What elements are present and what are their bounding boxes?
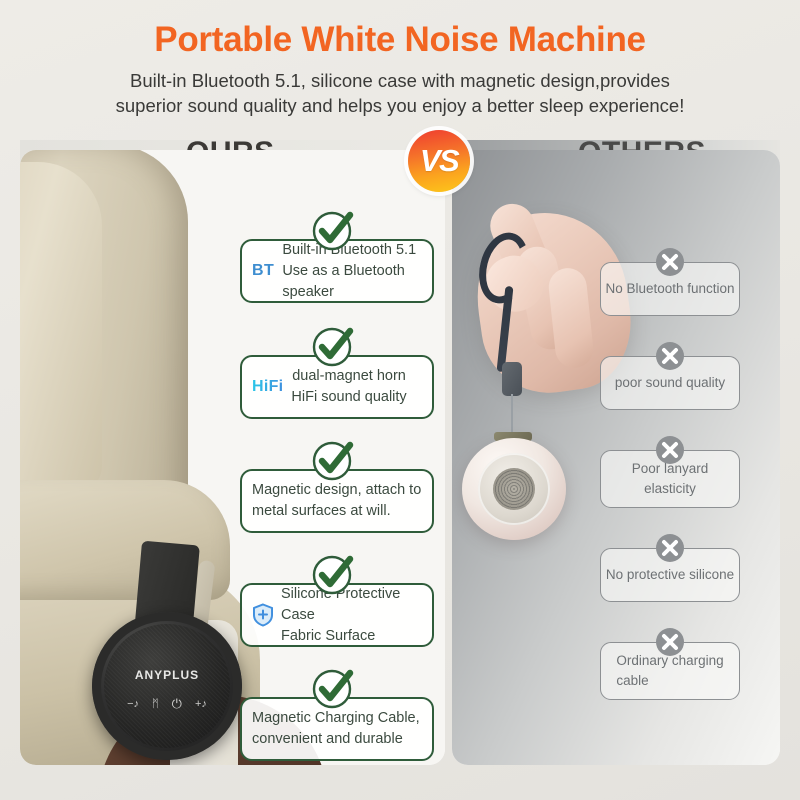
page-subtitle: Built-in Bluetooth 5.1, silicone case wi… xyxy=(40,68,760,118)
speaker-control-keys: −♪ ᛗ ⏻ +♪ xyxy=(92,696,242,712)
check-icon xyxy=(310,323,356,369)
white-noise-speaker: ANYPLUS −♪ ᛗ ⏻ +♪ xyxy=(92,612,242,760)
bluetooth-icon: ᛗ xyxy=(152,698,159,710)
con-row-5-line2: cable xyxy=(616,673,648,688)
con-row-3-line2: elasticity xyxy=(644,481,696,496)
stretched-lanyard-thread xyxy=(511,394,513,436)
con-row-1-text: No Bluetooth function xyxy=(605,279,734,299)
pro-row-3-text: Magnetic design, attach to metal surface… xyxy=(252,480,421,522)
check-icon xyxy=(310,207,356,253)
shield-plus-icon xyxy=(252,603,274,627)
pro-row-2-text: dual-magnet horn HiFi sound quality xyxy=(291,366,406,408)
cross-icon xyxy=(654,246,686,278)
lanyard-clasp xyxy=(502,362,522,396)
volume-up-icon: +♪ xyxy=(195,698,207,710)
bt-badge: BT xyxy=(252,262,274,280)
competitor-device xyxy=(462,438,566,540)
pro-row-5-text: Magnetic Charging Cable, convenient and … xyxy=(252,708,420,750)
check-icon xyxy=(310,551,356,597)
pro-row-1-line2: Use as a Bluetooth speaker xyxy=(282,263,405,300)
page-title: Portable White Noise Machine xyxy=(0,20,800,60)
pro-row-5-line1: Magnetic Charging Cable, xyxy=(252,710,420,726)
power-icon: ⏻ xyxy=(172,696,182,712)
con-row-4-text: No protective silicone xyxy=(606,565,734,585)
cross-icon xyxy=(654,532,686,564)
pro-row-2-line1: dual-magnet horn xyxy=(292,368,406,384)
subtitle-line-1: Built-in Bluetooth 5.1, silicone case wi… xyxy=(40,68,760,93)
pro-row-2-line2: HiFi sound quality xyxy=(291,389,406,405)
pro-row-5-line2: convenient and durable xyxy=(252,731,403,747)
check-icon xyxy=(310,437,356,483)
pro-row-3-line1: Magnetic design, attach to xyxy=(252,482,421,498)
cross-icon xyxy=(654,434,686,466)
volume-down-icon: −♪ xyxy=(127,698,139,710)
check-icon xyxy=(310,665,356,711)
pro-row-4-line2: Fabric Surface xyxy=(281,628,375,644)
speaker-brand-label: ANYPLUS xyxy=(92,668,242,682)
con-row-2-text: poor sound quality xyxy=(615,373,725,393)
cross-icon xyxy=(654,340,686,372)
vs-badge-label: VS xyxy=(420,143,458,179)
infographic-root: Portable White Noise Machine Built-in Bl… xyxy=(0,0,800,800)
vs-badge: VS xyxy=(408,130,470,192)
pro-row-3-line2: metal surfaces at will. xyxy=(252,503,391,519)
cross-icon xyxy=(654,626,686,658)
subtitle-line-2: superior sound quality and helps you enj… xyxy=(40,93,760,118)
hifi-badge: HiFi xyxy=(252,378,283,396)
